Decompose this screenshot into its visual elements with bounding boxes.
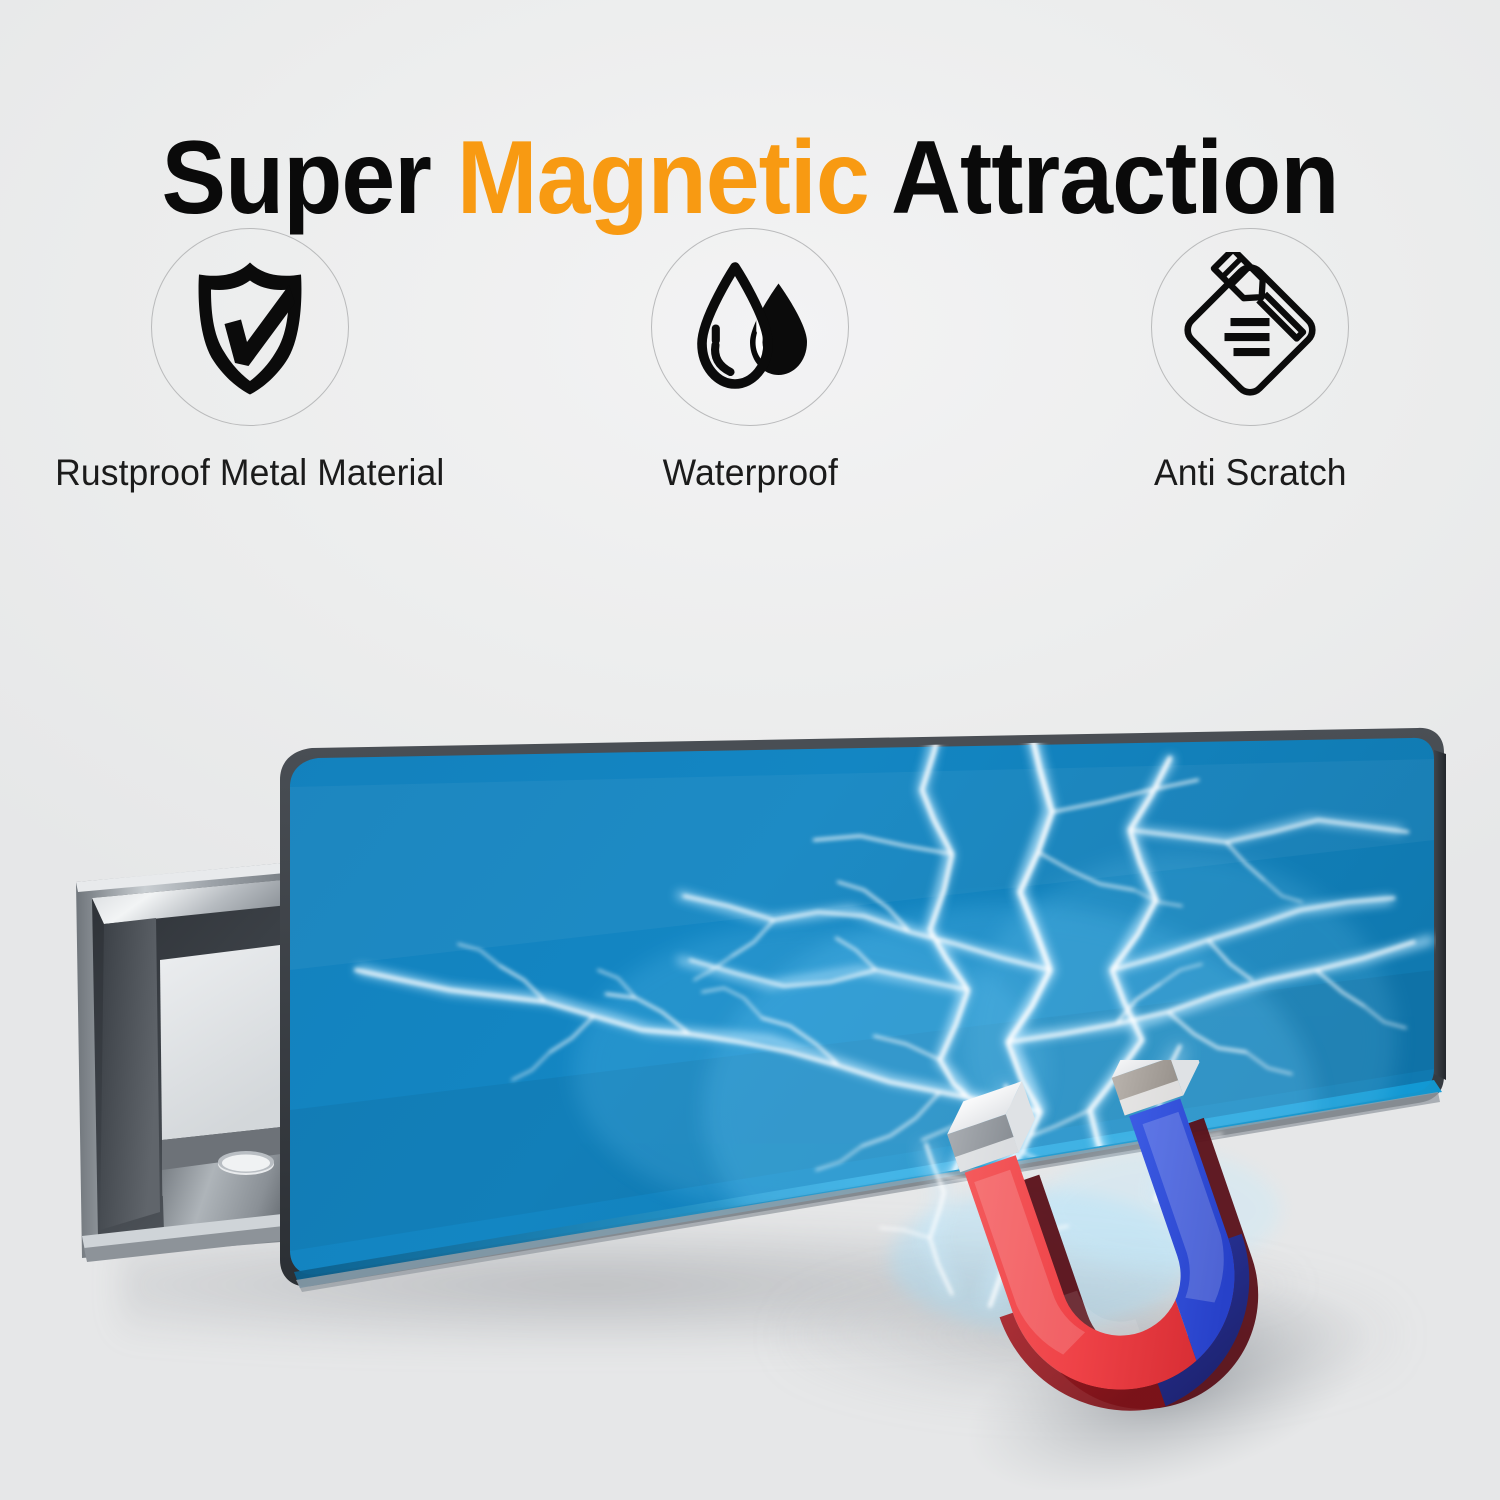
feature-label-anti-scratch: Anti Scratch	[1154, 452, 1347, 494]
headline-part-2: Attraction	[891, 120, 1338, 236]
headline-part-1: Super	[162, 120, 431, 236]
headline-highlight: Magnetic	[457, 120, 869, 236]
feature-badge-waterproof	[651, 228, 849, 426]
product-scene	[0, 560, 1500, 1500]
feature-badge-anti-scratch	[1151, 228, 1349, 426]
water-drop-icon	[675, 252, 825, 402]
feature-item-anti-scratch: Anti Scratch	[1035, 228, 1465, 494]
feature-list: Rustproof Metal Material Waterproof	[0, 228, 1500, 518]
horseshoe-magnet	[930, 1060, 1370, 1490]
product-feature-banner: Super Magnetic Attraction Rustproof Meta…	[0, 0, 1500, 1500]
feature-badge-rustproof	[151, 228, 349, 426]
feature-item-rustproof: Rustproof Metal Material	[35, 228, 465, 494]
feature-label-rustproof: Rustproof Metal Material	[55, 452, 444, 494]
feature-item-waterproof: Waterproof	[535, 228, 965, 494]
feature-label-waterproof: Waterproof	[662, 452, 837, 494]
shield-check-icon	[175, 252, 325, 402]
anti-scratch-pencil-icon	[1175, 252, 1325, 402]
page-title: Super Magnetic Attraction	[53, 126, 1448, 230]
